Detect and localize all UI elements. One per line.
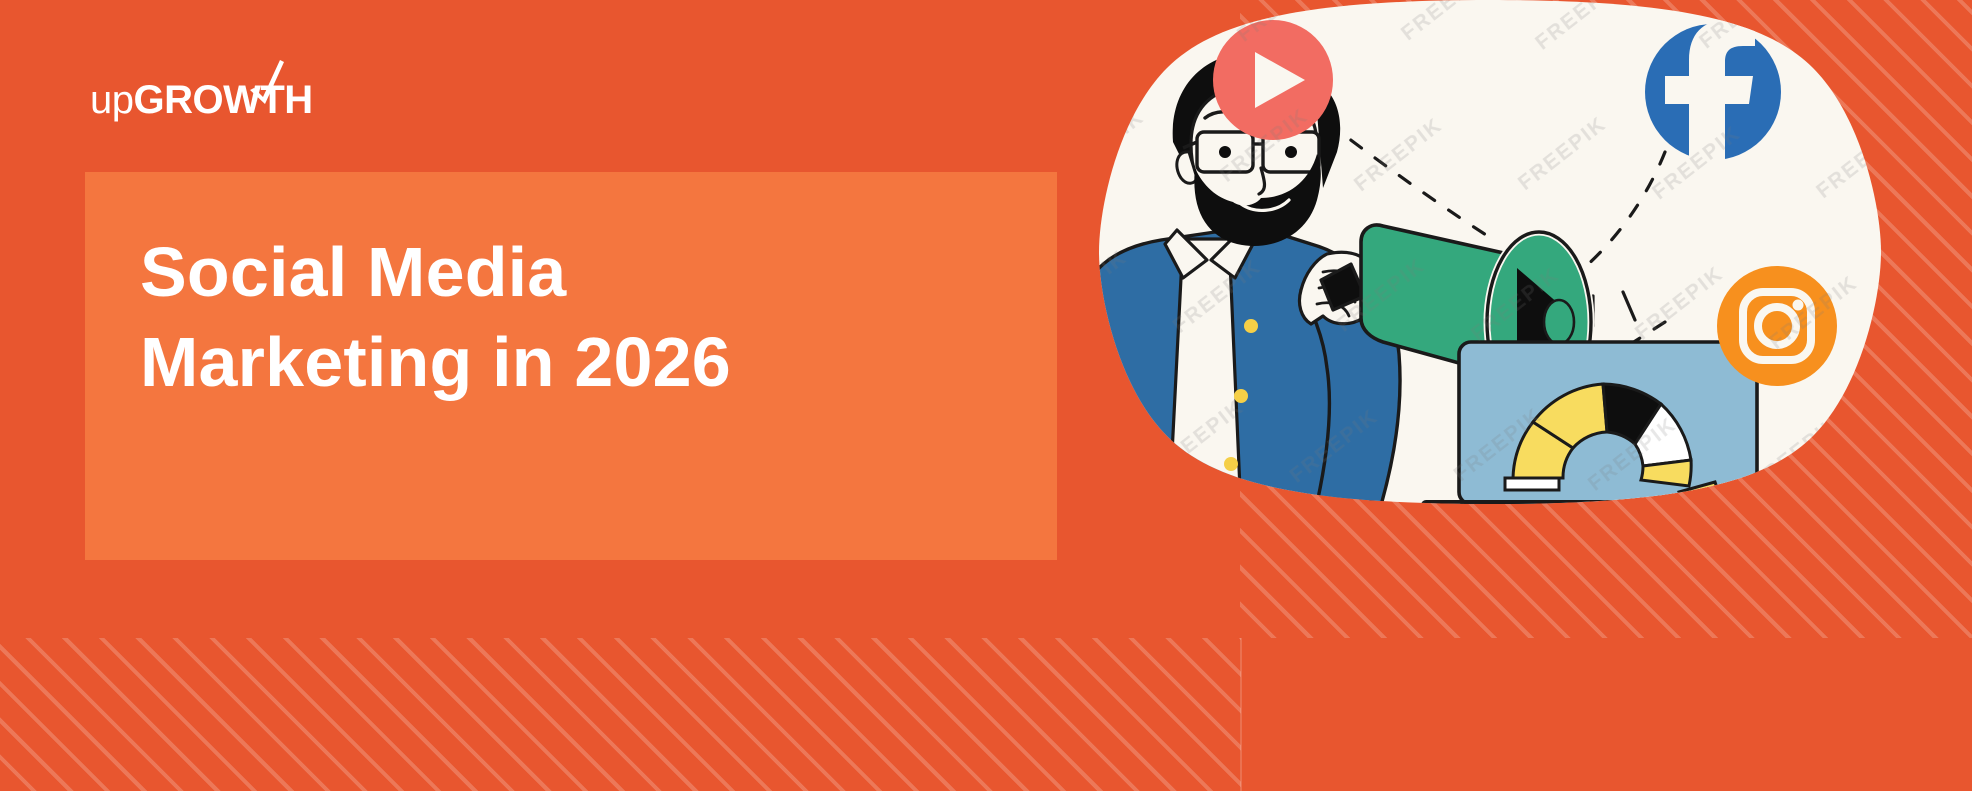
logo-suffix-text: GROWTH xyxy=(134,78,313,122)
banner: up GROWTH Social Media Marketing in 2026… xyxy=(0,0,1972,791)
logo-prefix: up xyxy=(90,80,134,120)
logo-suffix: GROWTH xyxy=(134,80,313,120)
brand-logo[interactable]: up GROWTH xyxy=(90,74,313,120)
social-media-marketing-illustration: FREEPIK FREEPIK xyxy=(1065,0,1915,512)
stripe-seam-divider xyxy=(1240,638,1242,791)
freepik-watermark xyxy=(1065,0,1915,512)
page-title: Social Media Marketing in 2026 xyxy=(140,228,960,407)
page-title-line-2: Marketing in 2026 xyxy=(140,318,960,408)
page-title-line-1: Social Media xyxy=(140,228,960,318)
diagonal-stripe-band-bottom xyxy=(0,638,1241,791)
